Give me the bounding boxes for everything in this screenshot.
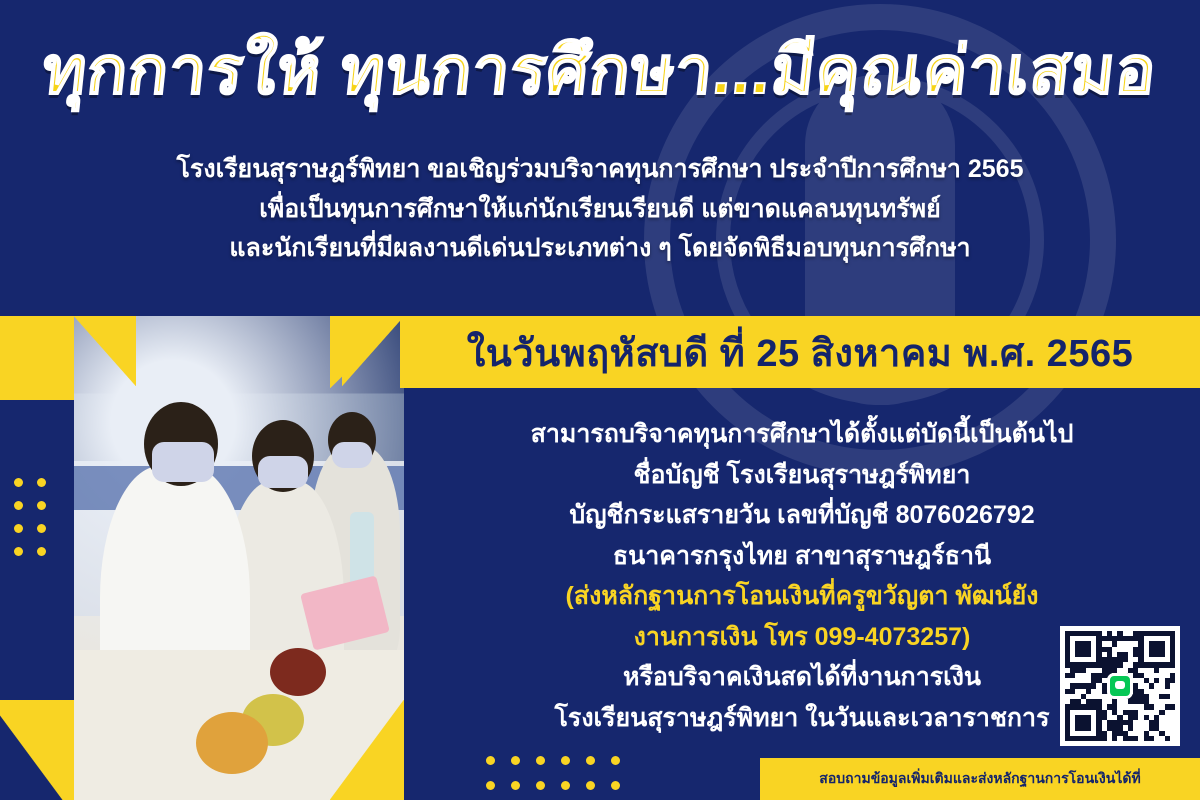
- subhead-line-3: และนักเรียนที่มีผลงานดีเด่นประเภทต่าง ๆ …: [0, 229, 1200, 269]
- subhead-line-1: โรงเรียนสุราษฎร์พิทยา ขอเชิญร่วมบริจาคทุ…: [0, 150, 1200, 190]
- details-line-5: (ส่งหลักฐานการโอนเงินที่ครูขวัญตา พัฒน์ย…: [404, 576, 1200, 617]
- event-date-band: ในวันพฤหัสบดี ที่ 25 สิงหาคม พ.ศ. 2565: [400, 316, 1200, 388]
- yellow-block-top-left: [0, 316, 74, 400]
- yellow-notch-date-band: [330, 316, 404, 388]
- poster-root: ทุกการให้ ทุนการศึกษา...มีคุณค่าเสมอ โรง…: [0, 0, 1200, 800]
- details-line-2: ชื่อบัญชี โรงเรียนสุราษฎร์พิทยา: [404, 455, 1200, 496]
- contact-strip: สอบถามข้อมูลเพิ่มเติมและส่งหลักฐานการโอน…: [760, 758, 1200, 800]
- line-app-icon: [1107, 673, 1133, 699]
- dot-grid-left: [14, 478, 46, 556]
- line-qr-code[interactable]: [1060, 626, 1180, 746]
- headline-text: ทุกการให้ ทุนการศึกษา...มีคุณค่าเสมอ: [39, 34, 1160, 108]
- details-line-1: สามารถบริจาคทุนการศึกษาได้ตั้งแต่บัดนี้เ…: [404, 414, 1200, 455]
- yellow-triangle-photo-left: [74, 316, 136, 386]
- poster-subheading: โรงเรียนสุราษฎร์พิทยา ขอเชิญร่วมบริจาคทุ…: [0, 150, 1200, 269]
- details-line-3: บัญชีกระแสรายวัน เลขที่บัญชี 8076026792: [404, 495, 1200, 536]
- dot-grid-bottom: [486, 756, 620, 790]
- yellow-triangle-photo-bottom-right: [330, 700, 404, 800]
- poster-headline: ทุกการให้ ทุนการศึกษา...มีคุณค่าเสมอ: [0, 34, 1200, 108]
- contact-strip-text: สอบถามข้อมูลเพิ่มเติมและส่งหลักฐานการโอน…: [819, 768, 1140, 790]
- event-date-text: ในวันพฤหัสบดี ที่ 25 สิงหาคม พ.ศ. 2565: [467, 322, 1133, 383]
- yellow-block-bottom-left: [0, 700, 74, 800]
- details-line-4: ธนาคารกรุงไทย สาขาสุราษฎร์ธานี: [404, 536, 1200, 577]
- subhead-line-2: เพื่อเป็นทุนการศึกษาให้แก่นักเรียนเรียนด…: [0, 190, 1200, 230]
